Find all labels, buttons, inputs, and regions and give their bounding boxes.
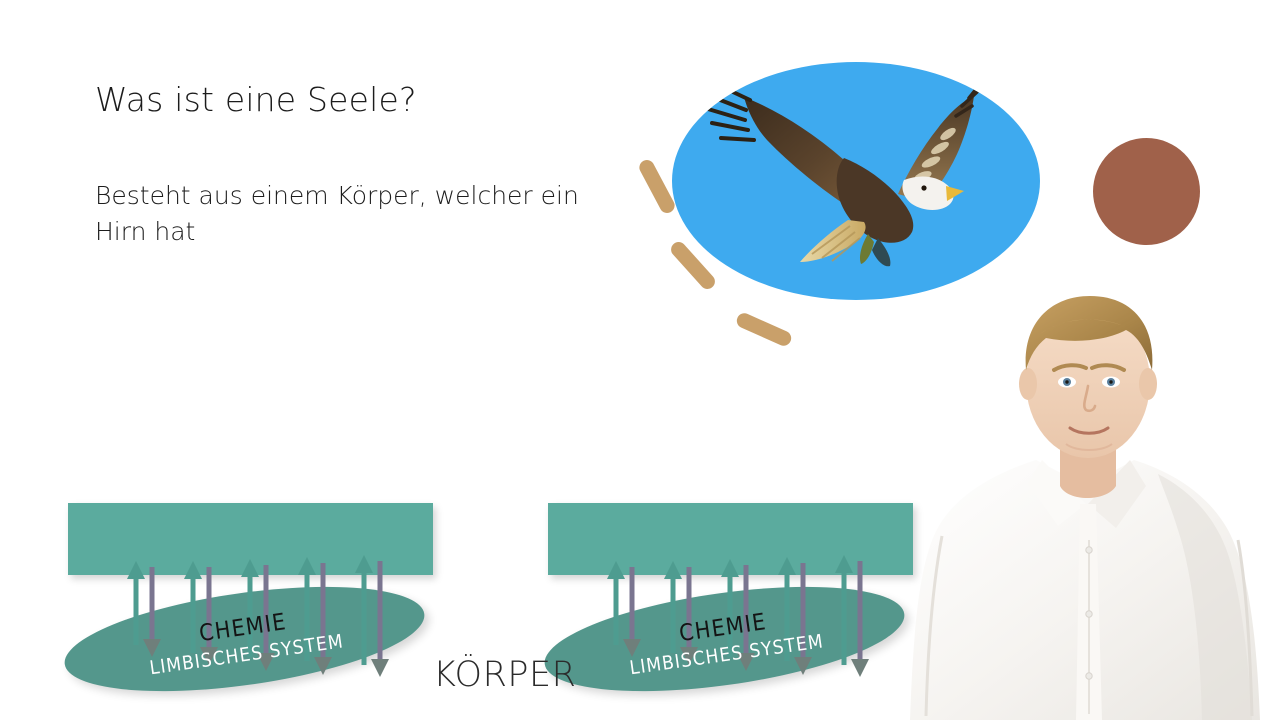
arrow-down-5: [371, 561, 389, 677]
shirt: [910, 460, 1260, 720]
arrow-up-2: [664, 561, 682, 653]
body-label: KÖRPER: [433, 655, 563, 695]
arrow-down-1: [623, 567, 641, 657]
slide-title: Was ist eine Seele?: [95, 80, 417, 119]
arrow-up-4: [778, 557, 796, 661]
dash-mark-icon-3: [734, 311, 793, 348]
arrow-up-2: [184, 561, 202, 653]
presenter-cutout: [890, 278, 1280, 720]
arrow-up-1: [607, 561, 625, 645]
arrow-up-1: [127, 561, 145, 645]
arrow-up-3: [241, 559, 259, 657]
slide-canvas: Was ist eine Seele? Besteht aus einem Kö…: [0, 0, 1280, 720]
slide-body-text: Besteht aus einem Körper, welcher ein Hi…: [95, 178, 635, 249]
arrow-up-3: [721, 559, 739, 657]
arrow-down-5: [851, 561, 869, 677]
arrow-down-4: [314, 563, 332, 675]
face: [1019, 296, 1157, 458]
arrow-up-5: [355, 555, 373, 665]
arrow-down-2: [680, 567, 698, 665]
arrow-down-1: [143, 567, 161, 657]
arrow-down-2: [200, 567, 218, 665]
arrow-down-4: [794, 563, 812, 675]
arrow-up-4: [298, 557, 316, 661]
arrow-down-3: [257, 565, 275, 671]
arrow-down-3: [737, 565, 755, 671]
eagle-icon: [672, 62, 1040, 300]
brain-diagram-left: HIRNRINDE: [55, 495, 485, 695]
eagle-graphic: [672, 62, 1040, 300]
eagle-ellipse-background: [672, 62, 1040, 300]
arrow-up-5: [835, 555, 853, 665]
brown-circle-shape: [1093, 138, 1200, 245]
signal-arrows-left: [55, 495, 485, 695]
